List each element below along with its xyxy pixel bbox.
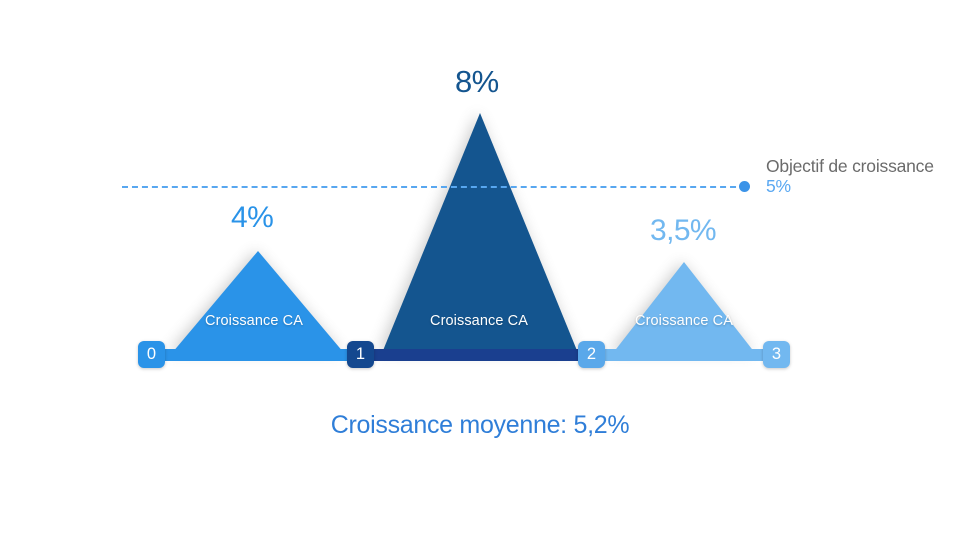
target-legend-value: 5% <box>766 177 956 196</box>
peak-3-caption: Croissance CA <box>635 313 733 329</box>
peak-2-caption: Croissance CA <box>430 313 528 329</box>
timeline-node-1[interactable]: 1 <box>347 341 374 368</box>
timeline-node-2[interactable]: 2 <box>578 341 605 368</box>
average-growth-caption: Croissance moyenne: 5,2% <box>0 411 960 440</box>
timeline-node-3[interactable]: 3 <box>763 341 790 368</box>
target-legend: Objectif de croissance 5% <box>766 157 956 196</box>
peak-triangle-1[interactable] <box>172 248 344 353</box>
timeline-segment-1[interactable] <box>162 349 354 361</box>
timeline-node-0[interactable]: 0 <box>138 341 165 368</box>
peak-3-value-label: 3,5% <box>650 214 716 248</box>
chart-canvas: Croissance CA Croissance CA Croissance C… <box>0 0 960 540</box>
peak-2-value-label: 8% <box>455 64 499 100</box>
timeline-segment-3[interactable] <box>598 349 776 361</box>
timeline-segment-2[interactable] <box>370 349 580 361</box>
target-endpoint-dot <box>739 181 750 192</box>
target-reference-line <box>122 186 746 188</box>
peak-1-caption: Croissance CA <box>205 313 303 329</box>
peak-1-value-label: 4% <box>231 201 273 235</box>
peak-triangle-3[interactable] <box>613 259 755 353</box>
target-legend-title: Objectif de croissance <box>766 157 956 176</box>
